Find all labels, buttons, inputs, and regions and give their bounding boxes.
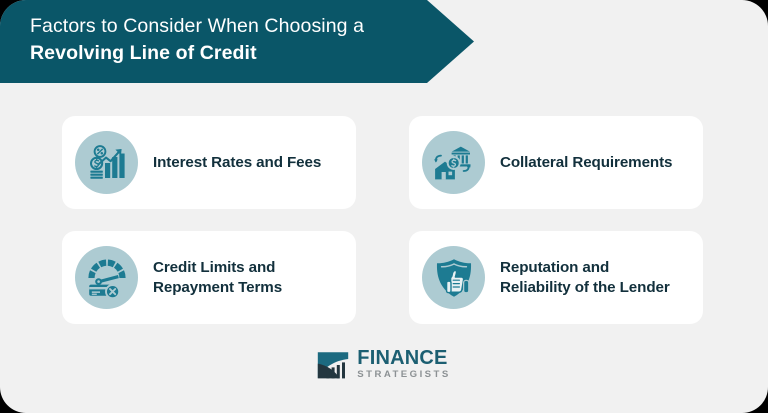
header-banner: Factors to Consider When Choosing a Revo… (0, 0, 474, 83)
header-title-line-1: Factors to Consider When Choosing a (30, 13, 430, 40)
factor-card-title: Collateral Requirements (500, 153, 672, 173)
factor-card-title: Credit Limits and Repayment Terms (153, 258, 335, 297)
bank-house-dollar-exchange-icon (422, 131, 485, 194)
logo-primary-text: FINANCE (357, 348, 450, 368)
factor-card-collateral-requirements[interactable]: Collateral Requirements (409, 116, 703, 209)
factor-card-title: Interest Rates and Fees (153, 153, 321, 173)
infographic-page: Factors to Consider When Choosing a Revo… (0, 0, 768, 413)
factor-card-interest-rates-and-fees[interactable]: Interest Rates and Fees (62, 116, 356, 209)
gauge-credit-card-icon (75, 246, 138, 309)
factor-card-grid: Interest Rates and Fees (62, 116, 707, 324)
factor-card-reputation-and-reliability-of-the-lender[interactable]: Reputation and Reliability of the Lender (409, 231, 703, 324)
header-text-block: Factors to Consider When Choosing a Revo… (30, 13, 430, 67)
factor-card-credit-limits-and-repayment-terms[interactable]: Credit Limits and Repayment Terms (62, 231, 356, 324)
logo-wordmark: FINANCE STRATEGISTS (357, 348, 450, 381)
logo-secondary-text: STRATEGISTS (357, 369, 450, 381)
header-title-line-2: Revolving Line of Credit (30, 40, 430, 67)
brand-logo: FINANCE STRATEGISTS (0, 348, 768, 381)
bar-chart-growth-percent-coins-icon (75, 131, 138, 194)
factor-card-title: Reputation and Reliability of the Lender (500, 258, 682, 297)
finance-strategists-logo-mark (317, 350, 350, 380)
shield-thumbs-up-icon (422, 246, 485, 309)
